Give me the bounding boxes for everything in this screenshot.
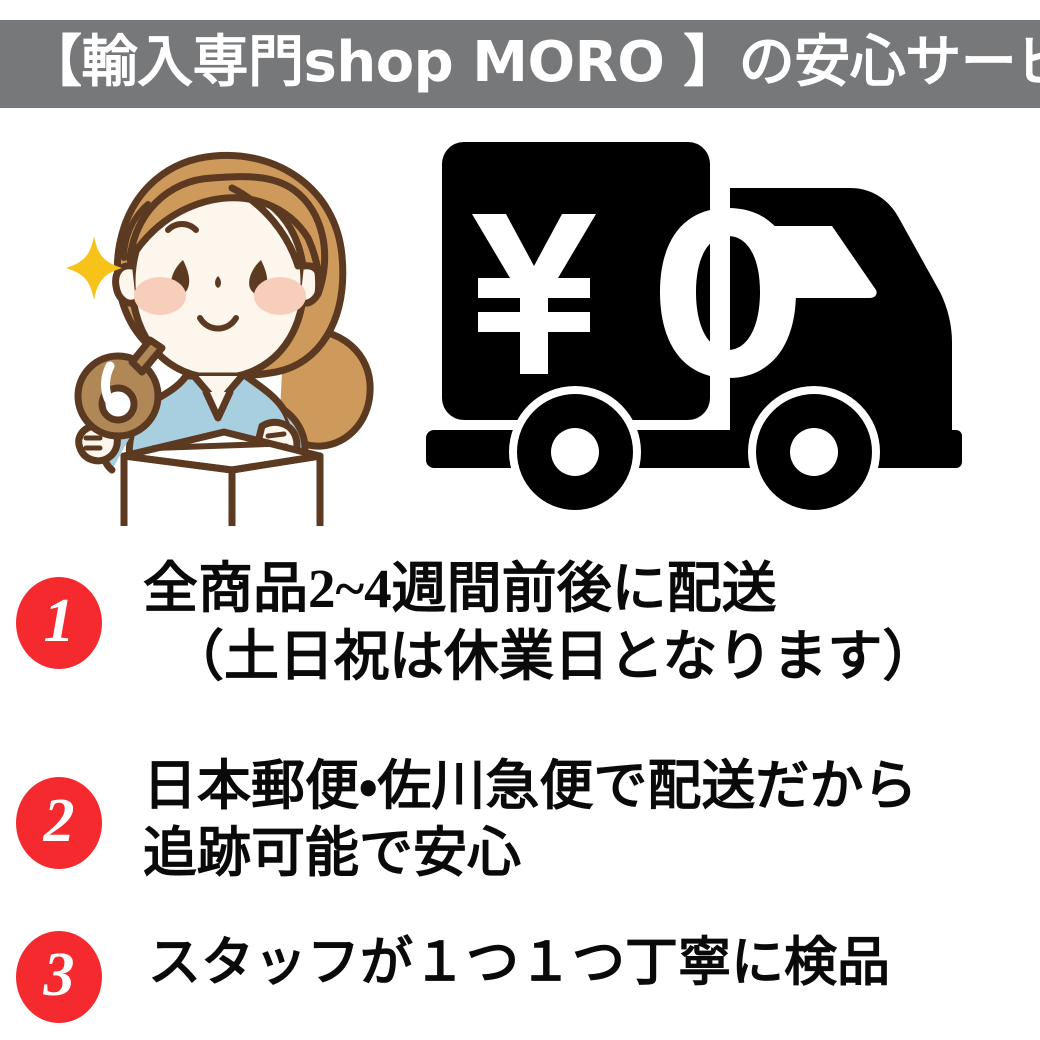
feature-line: 全商品2~4週間前後に配送 [143,555,1033,623]
list-item: 1 全商品2~4週間前後に配送 （土日祝は休業日となります） [0,555,1040,720]
header-banner: 【輸入専門shop MORO 】の安心サービス [0,20,1040,108]
truck-illustration-svg: ¥0 [420,130,1000,510]
feature-line: スタッフが１つ１つ丁寧に検品 [148,931,1038,997]
list-number-badge-1: 1 [16,577,102,669]
feature-text-3: スタッフが１つ１つ丁寧に検品 [148,931,1038,997]
feature-text-1: 全商品2~4週間前後に配送 （土日祝は休業日となります） [143,555,1033,691]
staff-inspecting-package-illustration [36,126,396,531]
free-shipping-truck-illustration: ¥0 [420,130,1000,515]
service-info-graphic: 【輸入専門shop MORO 】の安心サービス [0,0,1040,1040]
truck-price-text: ¥0 [420,130,436,134]
list-item: 3 スタッフが１つ１つ丁寧に検品 [0,925,1040,1035]
list-item: 2 日本郵便・佐川急便で配送だから 追跡可能で安心 [0,753,1040,913]
staff-illustration-svg [36,126,396,526]
feature-line: （土日祝は休業日となります） [143,623,1033,691]
page-title: 【輸入専門shop MORO 】の安心サービス [0,35,1040,91]
list-number-badge-2: 2 [16,777,102,869]
feature-line: 追跡可能で安心 [143,820,1033,887]
feature-line: 日本郵便・佐川急便で配送だから [143,753,1033,820]
feature-text-2: 日本郵便・佐川急便で配送だから 追跡可能で安心 [143,753,1033,887]
list-number-badge-3: 3 [16,931,102,1023]
illustration-row: ¥0 [0,118,1040,533]
